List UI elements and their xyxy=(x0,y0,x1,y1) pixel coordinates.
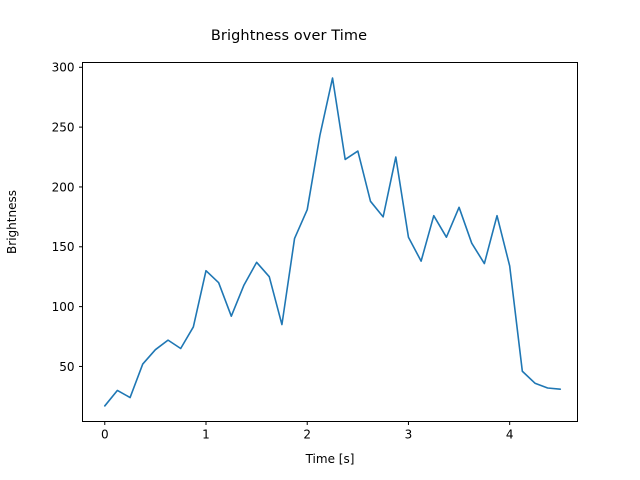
x-tick-label: 4 xyxy=(506,428,514,442)
y-axis-ticks: 50100150200250300 xyxy=(52,61,83,374)
data-series-brightness xyxy=(105,78,561,406)
x-tick-label: 2 xyxy=(303,428,311,442)
y-tick-label: 150 xyxy=(52,240,75,254)
x-tick-label: 0 xyxy=(101,428,109,442)
x-tick-label: 3 xyxy=(405,428,413,442)
y-tick-label: 300 xyxy=(52,61,75,75)
y-tick-label: 250 xyxy=(52,120,75,134)
y-tick-label: 100 xyxy=(52,300,75,314)
y-tick-label: 200 xyxy=(52,180,75,194)
plot-area: 01234 50100150200250300 xyxy=(0,0,640,480)
x-axis-ticks: 01234 xyxy=(101,422,514,442)
y-tick-label: 50 xyxy=(59,360,74,374)
figure-canvas: Brightness over Time Brightness Time [s]… xyxy=(0,0,640,480)
x-tick-label: 1 xyxy=(202,428,210,442)
